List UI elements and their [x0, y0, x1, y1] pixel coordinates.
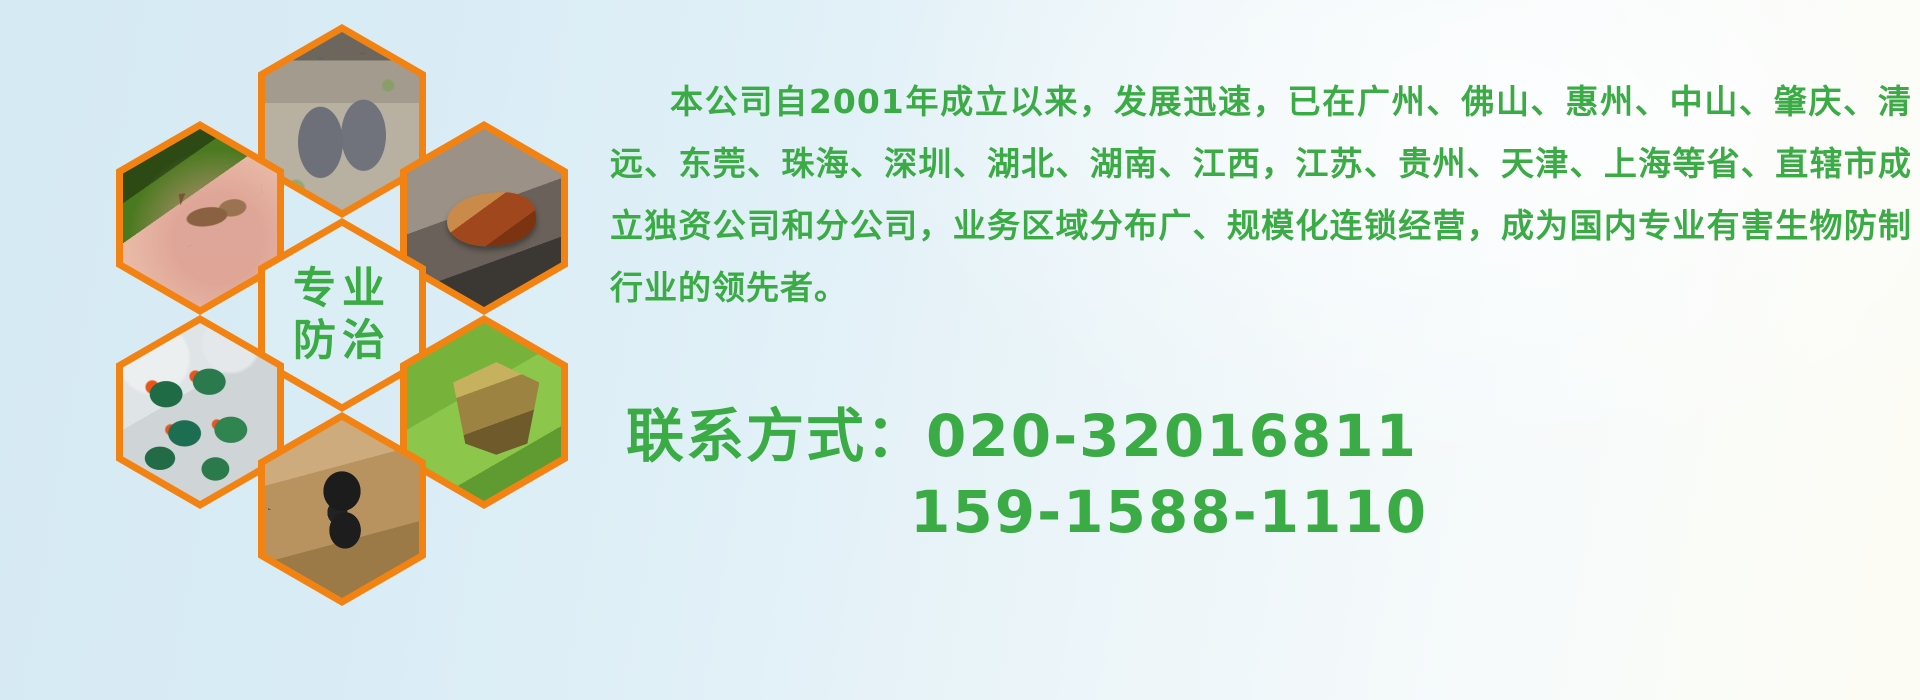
hex-inner: [407, 129, 561, 307]
hexagon-photo-collage: 专业 防治: [92, 8, 592, 553]
hex-inner: [265, 32, 419, 210]
hex-inner: [123, 129, 277, 307]
cockroach-photo: [407, 129, 561, 307]
collage-label-line-1: 专业: [293, 266, 391, 312]
contact-line-mobile[interactable]: 159-1588-1110: [620, 474, 1910, 550]
mosquito-photo: [123, 129, 277, 307]
contact-block: 联系方式：020-32016811 159-1588-1110: [620, 398, 1910, 550]
hex-inner: [123, 323, 277, 501]
contact-line-primary[interactable]: 联系方式：020-32016811: [620, 398, 1910, 474]
hex-inner: [407, 323, 561, 501]
rats-photo: [265, 32, 419, 210]
promo-banner: 专业 防治 本公司自2001年成立以来，发展迅速，已在广州、佛山、惠州、中山、肇…: [0, 0, 1920, 700]
collage-label-line-2: 防治: [293, 318, 391, 364]
ant-photo: [265, 420, 419, 598]
flies-photo: [123, 323, 277, 501]
collage-center-label: 专业 防治: [265, 226, 419, 404]
hex-inner: [265, 420, 419, 598]
hex-inner: 专业 防治: [265, 226, 419, 404]
company-description-paragraph: 本公司自2001年成立以来，发展迅速，已在广州、佛山、惠州、中山、肇庆、清远、东…: [610, 71, 1912, 319]
stinkbug-photo: [407, 323, 561, 501]
